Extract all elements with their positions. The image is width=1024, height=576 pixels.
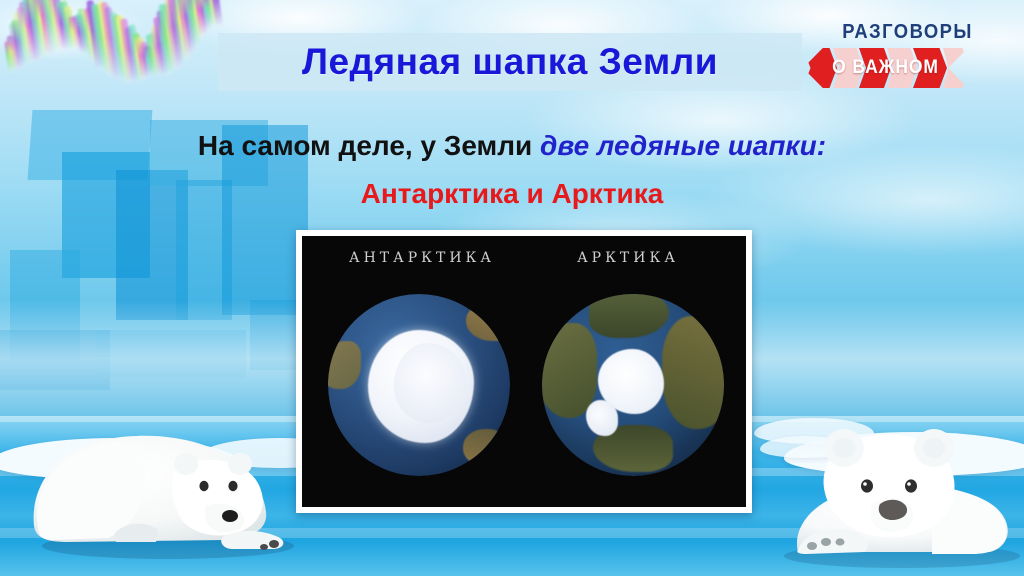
globes-photo: АНТАРКТИКА АРКТИКА [296,230,752,513]
chevron-segment [833,48,863,88]
globes-photo-inner: АНТАРКТИКА АРКТИКА [302,236,746,507]
polar-bear-cub [772,388,1022,568]
chevron-segment [803,48,837,88]
chevron-arrow-icon [803,48,968,88]
globe-label-antarctica: АНТАРКТИКА [322,250,522,266]
polar-bear-adult-icon [28,388,298,560]
logo-line1: РАЗГОВОРЫ [842,22,963,42]
globe-antarctica [328,294,510,476]
slide-root: Ледяная шапка Земли РАЗГОВОРЫ О ВАЖНОМ Н… [0,0,1024,576]
polar-bear-adult [28,388,298,560]
globe-label-arctic: АРКТИКА [528,250,728,266]
globe-landmass [463,429,507,465]
chevron-segment [913,48,947,88]
subtitle-emphasis: две ледяные шапки: [540,130,826,161]
globe-landmass [542,323,597,418]
subtitle-line-2: Антарктика и Арктика [0,178,1024,210]
program-logo: РАЗГОВОРЫ О ВАЖНОМ [803,22,968,92]
chevron-segment [859,48,891,88]
chevron-segment [887,48,917,88]
subtitle-line-1: На самом деле, у Земли две ледяные шапки… [0,130,1024,162]
subtitle-plain: На самом деле, у Земли [198,130,540,161]
globe-landmass [662,316,724,429]
globe-arctic [542,294,724,476]
polar-bear-cub-icon [772,388,1022,568]
page-title: Ледяная шапка Земли [302,41,718,83]
title-banner: Ледяная шапка Земли [218,33,802,91]
